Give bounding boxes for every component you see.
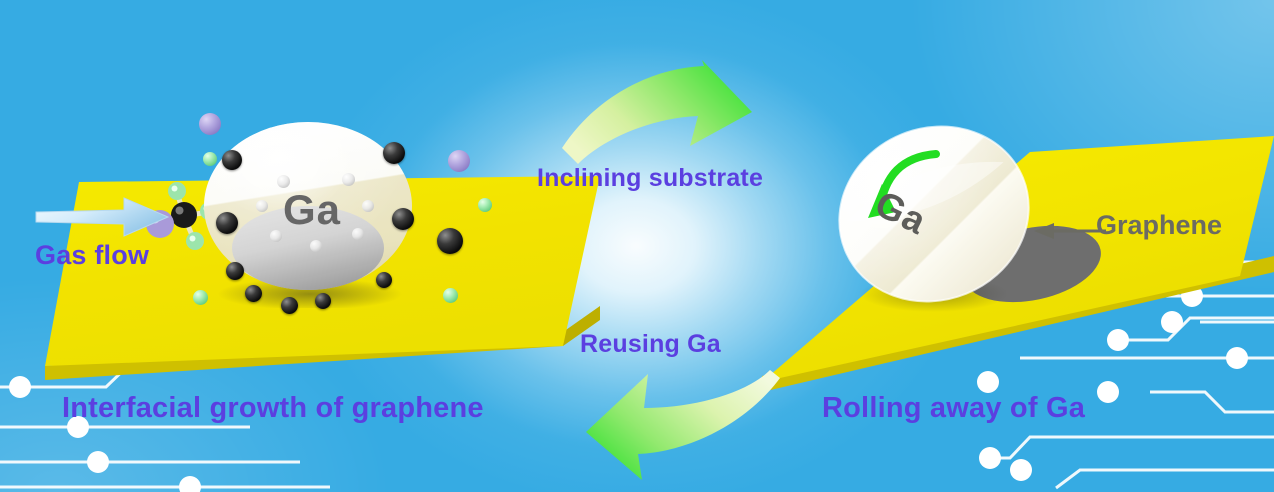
rim-sphere: [310, 240, 322, 252]
graphene-label: Graphene: [1096, 210, 1222, 241]
hydrogen-particle: [443, 288, 458, 303]
arrow-right-icon: [32, 196, 174, 240]
curved-arrow-right-icon: [556, 60, 776, 180]
surface-carbon: [315, 293, 331, 309]
reusing-ga-label: Reusing Ga: [580, 330, 721, 359]
surface-carbon: [392, 208, 414, 230]
rim-sphere: [342, 173, 355, 186]
surface-carbon: [216, 212, 238, 234]
rim-sphere: [270, 230, 282, 242]
gas-flow-label: Gas flow: [35, 240, 149, 271]
figure-canvas: Ga: [0, 0, 1274, 492]
surface-carbon: [281, 297, 298, 314]
surface-carbon: [376, 272, 392, 288]
ga-label-left: Ga: [283, 186, 341, 234]
carbon-atom: [171, 202, 197, 228]
rim-sphere: [362, 200, 374, 212]
interfacial-growth-caption: Interfacial growth of graphene: [62, 392, 484, 425]
rim-sphere: [277, 175, 290, 188]
inclining-substrate-label: Inclining substrate: [537, 164, 763, 193]
hydrogen-particle: [478, 198, 492, 212]
curved-arrow-left-icon: [556, 368, 786, 486]
carbon-particle: [437, 228, 463, 254]
surface-carbon: [383, 142, 405, 164]
surface-carbon: [245, 285, 262, 302]
rim-sphere: [352, 228, 364, 240]
gallium-particle: [448, 150, 470, 172]
rim-sphere: [256, 200, 268, 212]
surface-carbon: [222, 150, 242, 170]
right-ga-droplet: [830, 118, 1040, 318]
surface-carbon: [226, 262, 244, 280]
rolling-away-caption: Rolling away of Ga: [822, 392, 1085, 425]
